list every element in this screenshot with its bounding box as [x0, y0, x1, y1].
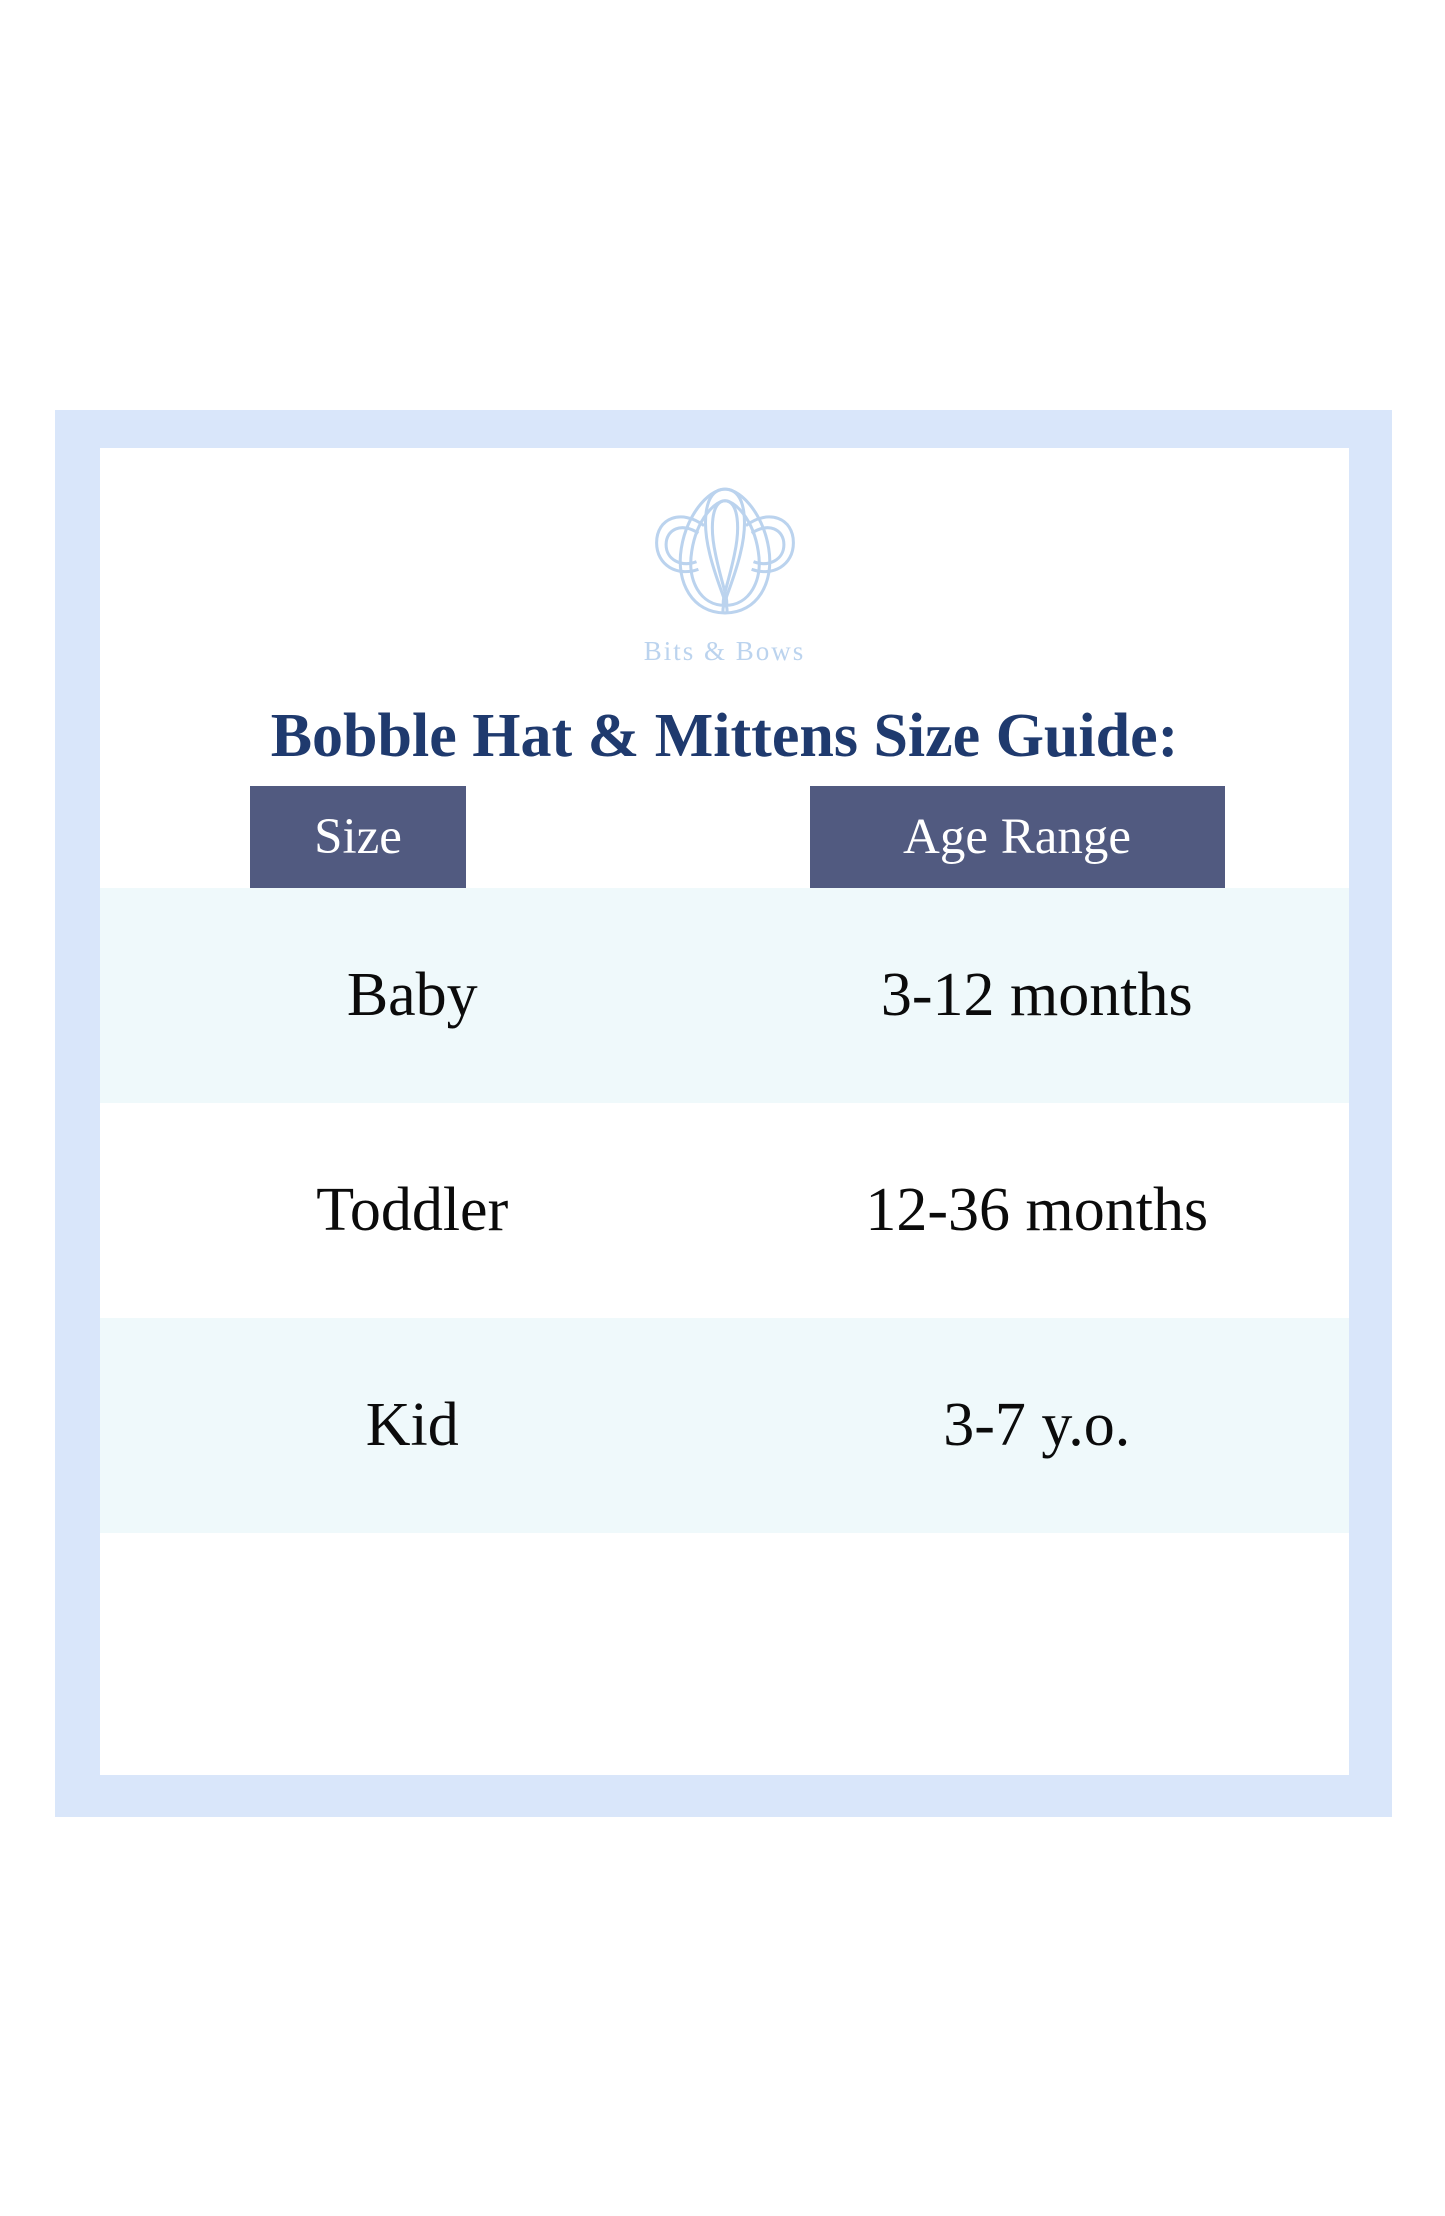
column-header-size-label: Size — [250, 786, 466, 888]
brand-wordmark: Bits & Bows — [100, 636, 1349, 667]
cell-size-toddler: Toddler — [100, 1103, 725, 1318]
cell-age-range-kid: 3-7 y.o. — [725, 1318, 1350, 1533]
column-header-age-range: Age Range — [725, 786, 1350, 888]
size-guide-table: Size Age Range Baby 3-12 months Toddler … — [100, 786, 1349, 1533]
cell-size-baby: Baby — [100, 888, 725, 1103]
page-title: Bobble Hat & Mittens Size Guide: — [100, 704, 1349, 769]
cell-age-range-toddler: 12-36 months — [725, 1103, 1350, 1318]
cell-age-range-baby: 3-12 months — [725, 888, 1350, 1103]
bits-and-bows-monogram-icon — [630, 470, 820, 642]
column-header-age-range-label: Age Range — [810, 786, 1225, 888]
table-footer-strip — [100, 1663, 1349, 1775]
table-body: Baby 3-12 months Toddler 12-36 months Ki… — [100, 888, 1349, 1533]
brand-block: Bits & Bows — [100, 448, 1349, 667]
size-guide-card: Bits & Bows Bobble Hat & Mittens Size Gu… — [100, 448, 1349, 1775]
table-row: Baby 3-12 months — [100, 888, 1349, 1103]
table-header-row: Size Age Range — [100, 786, 1349, 888]
size-guide-outer-frame: Bits & Bows Bobble Hat & Mittens Size Gu… — [55, 410, 1392, 1817]
cell-size-kid: Kid — [100, 1318, 725, 1533]
table-header: Size Age Range — [100, 786, 1349, 888]
table-row: Kid 3-7 y.o. — [100, 1318, 1349, 1533]
table-row: Toddler 12-36 months — [100, 1103, 1349, 1318]
column-header-size: Size — [100, 786, 725, 888]
